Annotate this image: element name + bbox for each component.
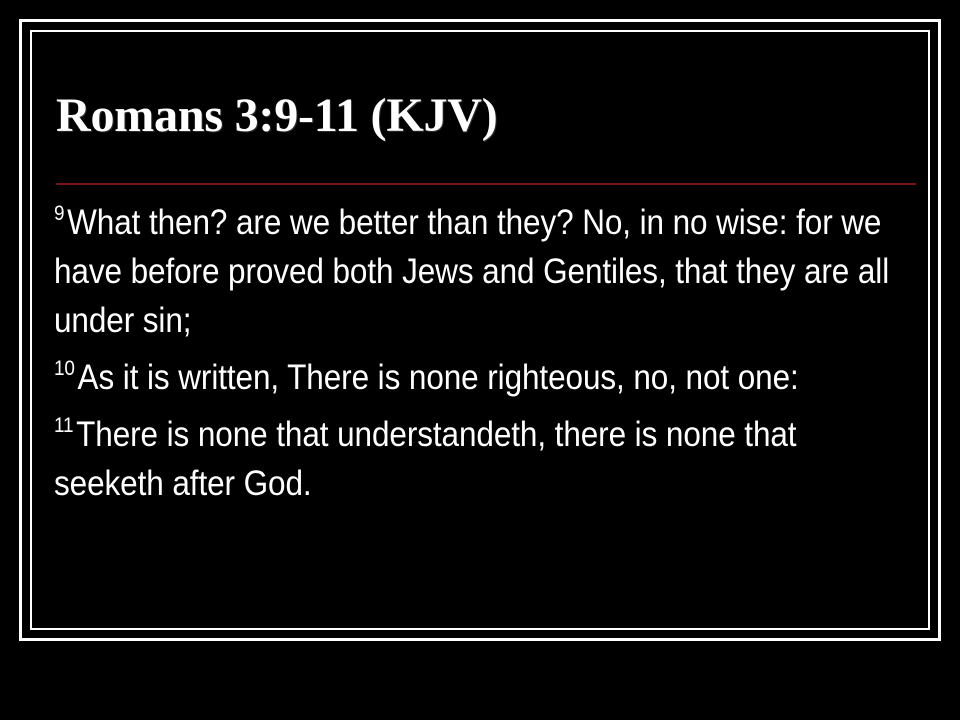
scripture-slide: Romans 3:9-11 (KJV) 9What then? are we b…: [0, 0, 960, 720]
verse-number: 11: [54, 414, 73, 437]
verse-text: As it is written, There is none righteou…: [78, 358, 799, 397]
verse-paragraph: 11There is none that understandeth, ther…: [54, 410, 893, 508]
title-divider-rule: [56, 183, 916, 185]
verse-text: There is none that understandeth, there …: [54, 415, 796, 503]
verse-body: 9What then? are we better than they? No,…: [54, 198, 894, 508]
verse-number: 9: [54, 202, 64, 225]
title-block: Romans 3:9-11 (KJV): [56, 92, 916, 140]
page-title: Romans 3:9-11 (KJV): [56, 92, 916, 140]
verse-paragraph: 9What then? are we better than they? No,…: [54, 198, 893, 345]
verse-number: 10: [54, 357, 75, 380]
verse-text: What then? are we better than they? No, …: [54, 203, 889, 340]
verse-paragraph: 10As it is written, There is none righte…: [54, 353, 893, 402]
